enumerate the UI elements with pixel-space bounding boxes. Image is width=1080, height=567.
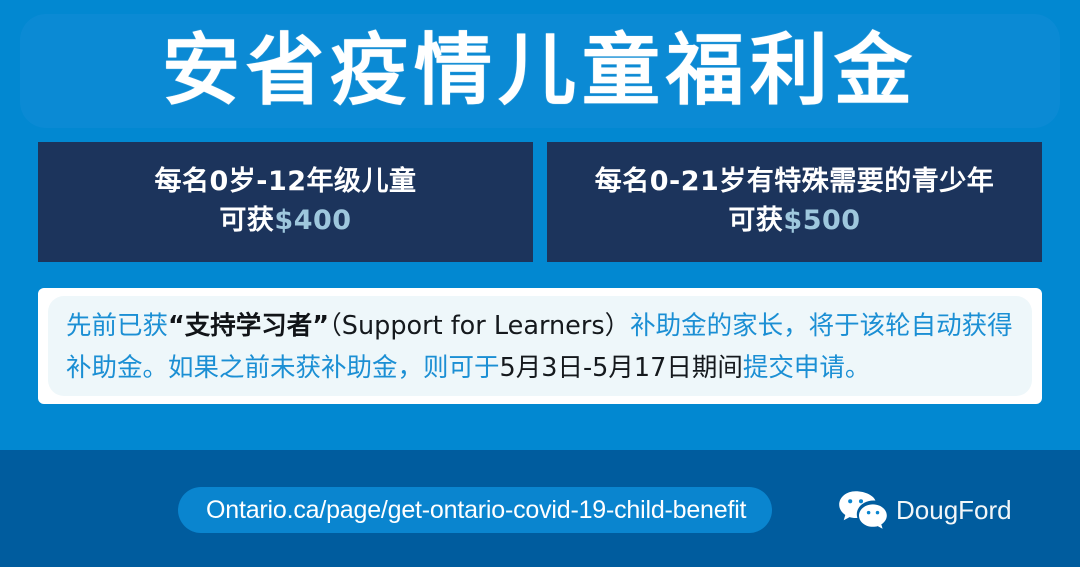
- benefit-cards-row: 每名0岁-12年级儿童 可获$400 每名0-21岁有特殊需要的青少年 可获$5…: [38, 142, 1042, 262]
- application-note-text: 先前已获“支持学习者”（Support for Learners）补助金的家长，…: [66, 306, 1014, 389]
- special-needs-amount-line: 可获$500: [728, 201, 860, 240]
- child-benefit-amount-line: 可获$400: [219, 201, 351, 240]
- application-note-box: 先前已获“支持学习者”（Support for Learners）补助金的家长，…: [38, 288, 1042, 404]
- url-pill[interactable]: Ontario.ca/page/get-ontario-covid-19-chi…: [178, 487, 772, 533]
- note-application-dates: 5月3日-5月17日期间: [500, 353, 743, 383]
- wechat-account-block[interactable]: DougFord: [838, 487, 1012, 533]
- wechat-account-name: DougFord: [896, 495, 1012, 526]
- note-segment-intro: 先前已获: [66, 311, 168, 341]
- benefit-url-text: Ontario.ca/page/get-ontario-covid-19-chi…: [206, 496, 746, 525]
- child-benefit-amount-prefix: 可获: [219, 205, 274, 236]
- special-needs-amount-prefix: 可获: [728, 205, 783, 236]
- application-note-inner: 先前已获“支持学习者”（Support for Learners）补助金的家长，…: [48, 296, 1032, 396]
- special-needs-benefit-card: 每名0-21岁有特殊需要的青少年 可获$500: [547, 142, 1042, 262]
- note-segment-apply: 提交申请。: [743, 353, 871, 383]
- note-program-name-en: （Support for Learners）: [329, 311, 630, 341]
- page-title: 安省疫情儿童福利金: [0, 14, 1080, 128]
- child-benefit-card: 每名0岁-12年级儿童 可获$400: [38, 142, 533, 262]
- note-program-name-zh: “支持学习者”: [168, 311, 329, 341]
- special-needs-eligibility-text: 每名0-21岁有特殊需要的青少年: [595, 164, 995, 200]
- wechat-icon: [838, 489, 888, 531]
- child-benefit-eligibility-text: 每名0岁-12年级儿童: [154, 164, 416, 200]
- child-benefit-amount-value: $400: [274, 205, 351, 236]
- poster-root: 安省疫情儿童福利金 每名0岁-12年级儿童 可获$400 每名0-21岁有特殊需…: [0, 0, 1080, 567]
- special-needs-amount-value: $500: [783, 205, 860, 236]
